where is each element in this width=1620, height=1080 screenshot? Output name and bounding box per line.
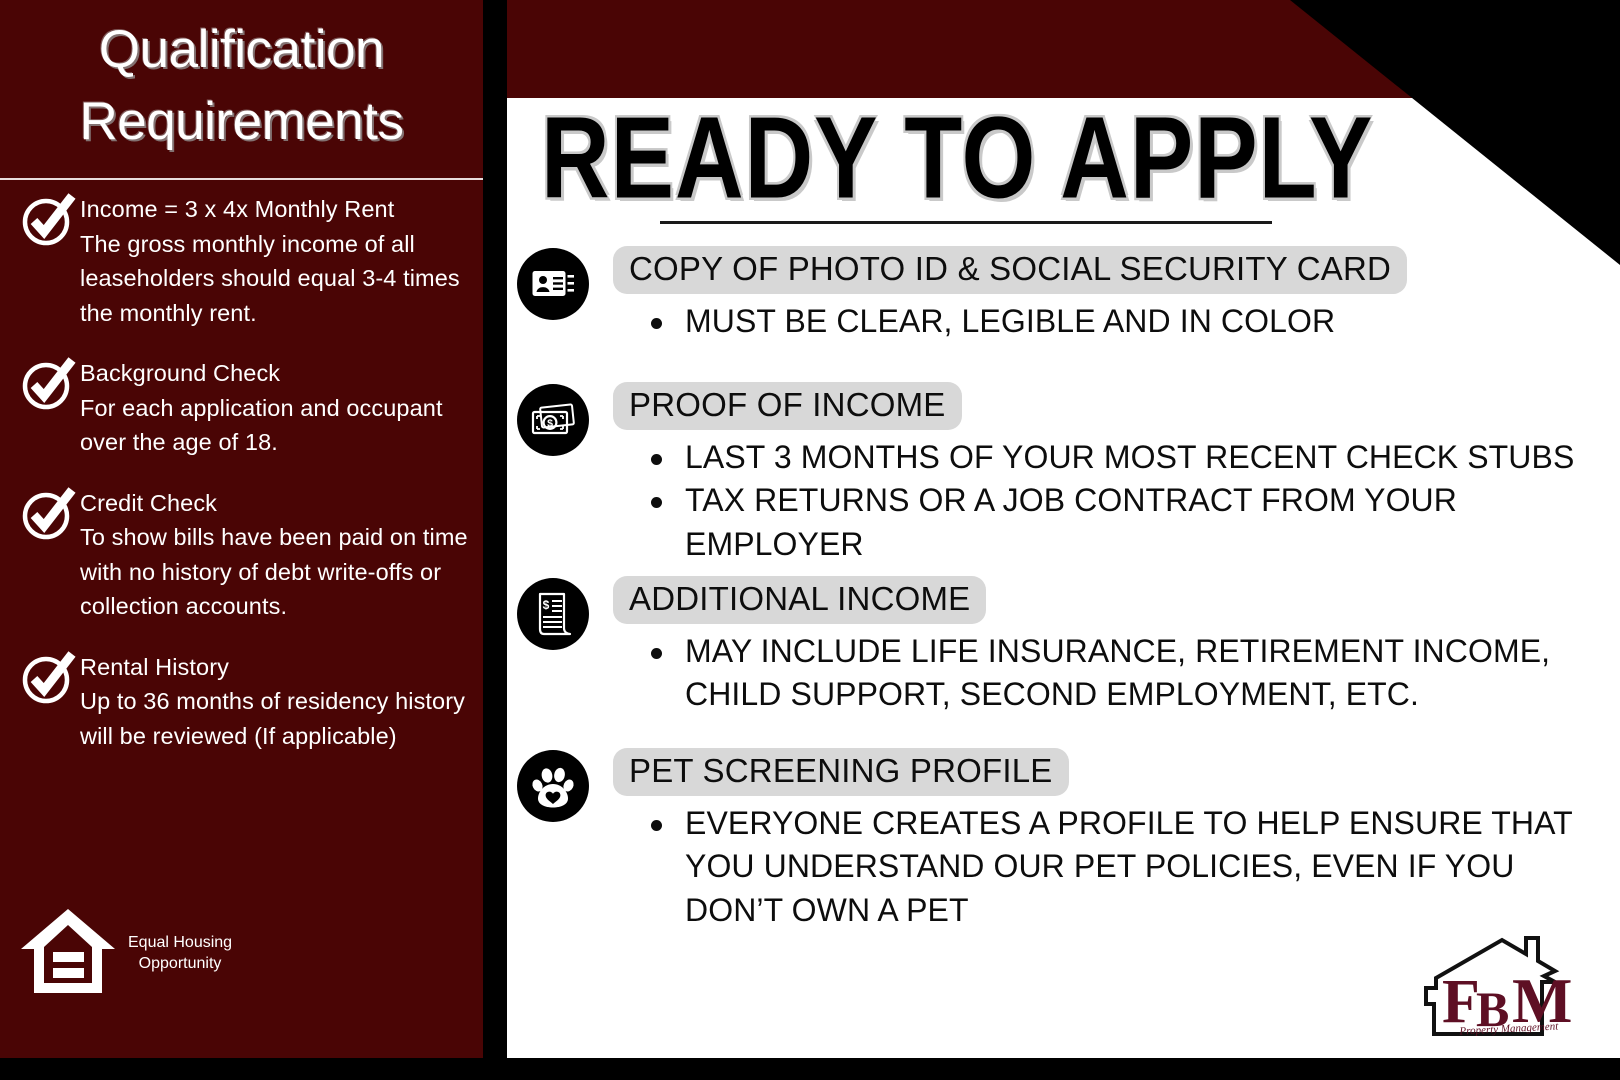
list-item-description: The gross monthly income of all leasehol… (80, 227, 469, 331)
section-heading: COPY OF PHOTO ID & SOCIAL SECURITY CARD (613, 246, 1407, 294)
section-bullets: EVERYONE CREATES A PROFILE TO HELP ENSUR… (613, 802, 1610, 933)
check-circle-icon (18, 356, 80, 414)
list-item: MAY INCLUDE LIFE INSURANCE, RETIREMENT I… (641, 630, 1610, 718)
id-card-icon (517, 248, 589, 320)
cash-money-icon: $ (517, 384, 589, 456)
section-bullets: MUST BE CLEAR, LEGIBLE AND IN COLOR (613, 300, 1610, 344)
list-item: Credit Check To show bills have been pai… (0, 482, 483, 624)
list-item-title: Income = 3 x 4x Monthly Rent (80, 192, 469, 227)
paw-print-heart-icon (517, 750, 589, 822)
poster-canvas: Qualification Requirements Income = 3 x … (0, 0, 1620, 1080)
section-icon-wrap: $ (517, 576, 613, 650)
section-icon-wrap (517, 748, 613, 822)
headline-underline (660, 221, 1272, 224)
list-item: LAST 3 MONTHS OF YOUR MOST RECENT CHECK … (641, 436, 1610, 480)
section-bullets: LAST 3 MONTHS OF YOUR MOST RECENT CHECK … (613, 436, 1610, 567)
requirement-section: $ PROOF OF INCOME LAST 3 MONTHS OF YOUR … (507, 382, 1620, 567)
requirement-section: COPY OF PHOTO ID & SOCIAL SECURITY CARD … (507, 246, 1620, 343)
section-body: COPY OF PHOTO ID & SOCIAL SECURITY CARD … (613, 246, 1620, 343)
list-item-title: Background Check (80, 356, 469, 391)
section-heading: ADDITIONAL INCOME (613, 576, 986, 624)
section-icon-wrap (517, 246, 613, 320)
list-item-text: Income = 3 x 4x Monthly Rent The gross m… (80, 188, 469, 330)
svg-text:$: $ (543, 598, 550, 612)
qualification-list: Income = 3 x 4x Monthly Rent The gross m… (0, 188, 483, 775)
section-icon-wrap: $ (517, 382, 613, 456)
list-item-text: Credit Check To show bills have been pai… (80, 482, 469, 624)
section-heading: PROOF OF INCOME (613, 382, 962, 430)
list-item-text: Rental History Up to 36 months of reside… (80, 646, 469, 754)
list-item-text: Background Check For each application an… (80, 352, 469, 460)
list-item-description: For each application and occupant over t… (80, 391, 469, 460)
section-bullets: MAY INCLUDE LIFE INSURANCE, RETIREMENT I… (613, 630, 1610, 718)
list-item-description: To show bills have been paid on time wit… (80, 520, 469, 624)
check-circle-icon (18, 486, 80, 544)
panel-divider (483, 0, 507, 1058)
requirement-section: $ ADDITIONAL INCOME MAY INCLUDE LIFE INS… (507, 576, 1620, 717)
list-item: Rental History Up to 36 months of reside… (0, 646, 483, 754)
invoice-document-icon: $ (517, 578, 589, 650)
qualification-requirements-panel: Qualification Requirements Income = 3 x … (0, 0, 483, 1058)
list-item-description: Up to 36 months of residency history wil… (80, 684, 469, 753)
equal-housing-opportunity-badge: Equal Housing Opportunity (18, 905, 232, 1002)
list-item: MUST BE CLEAR, LEGIBLE AND IN COLOR (641, 300, 1610, 344)
list-item: TAX RETURNS OR A JOB CONTRACT FROM YOUR … (641, 479, 1610, 567)
check-circle-icon (18, 650, 80, 708)
list-item: Background Check For each application an… (0, 352, 483, 460)
ready-to-apply-panel: READY TO APPLY (507, 0, 1620, 1058)
section-body: PET SCREENING PROFILE EVERYONE CREATES A… (613, 748, 1620, 933)
equal-housing-opportunity-label: Equal Housing Opportunity (128, 933, 232, 975)
list-item-title: Rental History (80, 650, 469, 685)
svg-text:$: $ (547, 418, 553, 430)
equal-housing-opportunity-icon (18, 905, 118, 1002)
requirement-section: PET SCREENING PROFILE EVERYONE CREATES A… (507, 748, 1620, 933)
section-heading: PET SCREENING PROFILE (613, 748, 1069, 796)
fbm-house-logo-icon: F B M Property Management (1414, 926, 1596, 1036)
list-item: EVERYONE CREATES A PROFILE TO HELP ENSUR… (641, 802, 1610, 933)
list-item: Income = 3 x 4x Monthly Rent The gross m… (0, 188, 483, 330)
list-item-title: Credit Check (80, 486, 469, 521)
section-body: ADDITIONAL INCOME MAY INCLUDE LIFE INSUR… (613, 576, 1620, 717)
title-divider (0, 178, 483, 180)
check-circle-icon (18, 192, 80, 250)
section-body: PROOF OF INCOME LAST 3 MONTHS OF YOUR MO… (613, 382, 1620, 567)
headline: READY TO APPLY (541, 101, 1421, 217)
page-title: Qualification Requirements (0, 14, 483, 158)
